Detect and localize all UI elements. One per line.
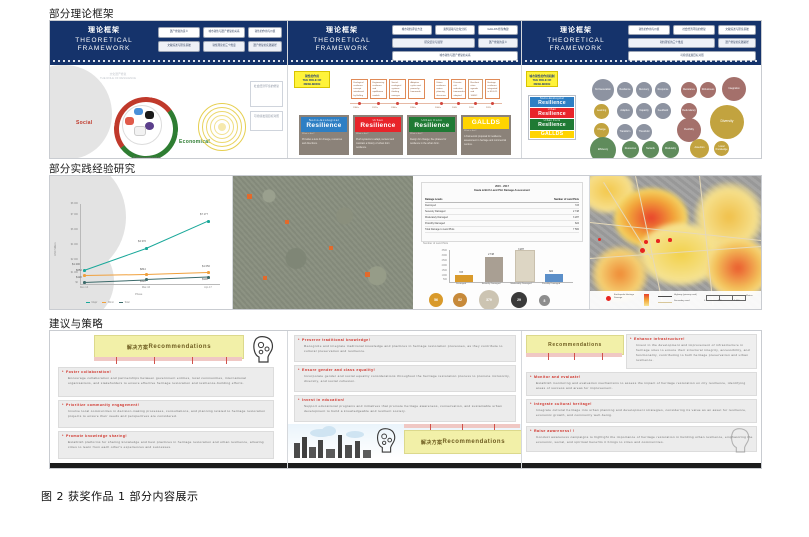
damage-table-cell: 2 748 <box>573 210 579 213</box>
banner-title-cn: 理论框架 <box>530 26 622 35</box>
map-scale-bar <box>706 295 746 301</box>
legend-row: Urban Form Resilience <box>530 119 574 129</box>
resilience-box: Urban Form Resilience What is this? Desi… <box>407 115 457 155</box>
resilience-box-caption: Socio-Ecological Resilience <box>301 117 347 132</box>
poster2-panel-line-chart: $8 000 $7 000 $6 000 $4 000 $2 000 $1 00… <box>50 176 232 309</box>
chart-ytick: $6 000 <box>58 228 78 231</box>
banner-title-en1: THEORETICAL <box>530 37 622 45</box>
bubble: Resources <box>622 141 639 158</box>
chart-xtick: Apr-17 <box>196 286 220 289</box>
banner-tick <box>192 357 193 364</box>
poster1-header-box: 社会经济环境的修复 <box>673 25 715 35</box>
head-gears-icon <box>250 335 276 365</box>
head-gears-icon <box>374 427 398 455</box>
legend-earthquake-label: Earthquake Heritage Damage <box>614 294 640 300</box>
bar-chart-ytick: 1000 <box>431 274 447 277</box>
recommendation-body: Support educational programs and initiat… <box>298 404 512 414</box>
banner-tick <box>116 357 117 364</box>
chart-data-label: $120 <box>76 276 82 279</box>
timeline-card: Social-ecological systems thinking emerg… <box>389 79 406 99</box>
chart-ytick: $0 <box>58 281 78 284</box>
poster1-bubble-cluster: 3rd Generation Resilience Recovery Respo… <box>582 73 758 157</box>
resilience-box-caption: Urban Form Resilience <box>409 117 455 132</box>
legend-row: Urban Resilience <box>530 108 574 118</box>
chart-marker <box>83 269 86 272</box>
recommendation-body: Invest in the development and improvemen… <box>630 343 753 362</box>
bar <box>455 275 473 282</box>
recommendation-card: Prioritize community engagement! Involve… <box>58 400 274 428</box>
recommendation-card: Promote knowledge sharing! Establish pla… <box>58 431 274 459</box>
chart-ytick: $7 000 <box>58 213 78 216</box>
chart-x-axis-label: Phase <box>135 293 142 296</box>
chart-data-label: $420 <box>140 280 146 283</box>
bubble: Assertion <box>690 139 709 158</box>
poster3-panel-right: Recommendations Enhance infrastructure! … <box>522 331 761 468</box>
section-heading-theoretical-framework: 部分理论框架 <box>49 6 114 21</box>
banner-tick <box>226 357 227 364</box>
banner-en: Recommendations <box>548 342 602 348</box>
chart-y-axis <box>80 204 81 284</box>
tag-en2: RESILIENCE <box>304 82 321 86</box>
banner-title-en2: FRAMEWORK <box>58 45 150 53</box>
building <box>318 440 323 458</box>
venn-center-en: THE ROLE OF RESILIENCE <box>100 76 136 80</box>
damage-table-title: Kaula & Birth Land Plot Damage Assessmen… <box>422 189 582 193</box>
timeline-label: 1970s <box>372 107 378 109</box>
resilience-box-caption: GALLDS <box>463 117 509 129</box>
recommendation-title: Preserve traditional knowledge! <box>298 338 512 343</box>
poster1-spiral-graphic <box>198 103 246 151</box>
recommendations-banner: 解决方案Recommendations <box>94 335 244 359</box>
earthquake-dot <box>644 240 648 244</box>
chart-data-label: $900 <box>202 278 208 281</box>
banner-en: Recommendations <box>148 344 211 350</box>
poster3-footer-bar <box>288 463 521 468</box>
recommendation-title: Promote knowledge sharing! <box>62 434 270 439</box>
poster1-header-box: 韧性的作用与价值 <box>248 27 282 38</box>
poster1-header-box: 遗产修复的意义 <box>478 38 518 48</box>
scale-tick: 0 <box>704 300 705 302</box>
poster1-banner-title-middle: 理论框架 THEORETICAL FRAMEWORK <box>296 26 388 53</box>
chart-legend-label: Total <box>124 301 129 304</box>
chart-line-segment <box>84 280 146 284</box>
timeline-dot <box>440 102 443 105</box>
earthquake-dot <box>668 238 672 242</box>
poster1-banner-middle: 理论框架 THEORETICAL FRAMEWORK 城市韧性评估方法 案例选取… <box>288 21 521 65</box>
chart-data-label: $1 050 <box>202 265 210 268</box>
timeline-card: Resilient cities agenda and 100RC progra… <box>468 79 483 99</box>
chart-legend-label: Major <box>92 301 98 304</box>
damage-chip: 379 <box>479 290 499 309</box>
bubble: Redundancy <box>681 103 697 119</box>
venn-icon-economy <box>145 111 154 119</box>
timeline-label: 1960s <box>353 107 359 109</box>
recommendation-body: Involve local communities in decision-ma… <box>62 409 270 419</box>
recommendations-banner: 解决方案Recommendations <box>404 430 521 454</box>
recommendation-card: Preserve traditional knowledge! Recogniz… <box>294 335 516 362</box>
poster1-header-box: 韧性理论的三个维度 <box>628 38 715 48</box>
earthquake-dot <box>598 238 601 241</box>
poster1-center-caption: 文化遗产修复 THE ROLE OF RESILIENCE <box>88 69 148 93</box>
map-marker <box>329 246 333 250</box>
poster3-panel-middle: Preserve traditional knowledge! Recogniz… <box>288 331 521 468</box>
damage-table-cell: 723 <box>575 204 579 207</box>
bubble: Diversity <box>710 105 744 139</box>
legend-row-title: Resilience <box>532 101 572 106</box>
legend-row: Socio-Ecological Resilience <box>530 97 574 107</box>
legend-row-title: Resilience <box>532 112 572 117</box>
bubble: 3rd Generation <box>592 79 614 101</box>
chart-marker <box>207 271 210 274</box>
bubble: Transform <box>617 124 633 140</box>
timeline-dot <box>358 102 361 105</box>
poster3-panel-left: 解决方案Recommendations Foster collaboration… <box>50 331 287 468</box>
bubble: Network <box>642 141 659 158</box>
recommendation-title: Raise awareness! ! <box>530 429 753 434</box>
poster1-header-box: 遗产修复的实践路径 <box>718 38 756 48</box>
bar-category-label: Moderately Damaged <box>509 283 533 285</box>
poster1-header-box: 遗产修复的实践路径 <box>248 41 282 52</box>
venn-icon-community <box>125 117 134 125</box>
section-heading-recommendations: 建议与策略 <box>49 316 103 331</box>
poster1-panel-middle: 理论框架 THEORETICAL FRAMEWORK 城市韧性评估方法 案例选取… <box>288 21 521 158</box>
bar <box>485 257 503 282</box>
recommendation-title: Invest in education! <box>298 398 512 403</box>
bar-value-label: 3 287 <box>511 249 531 251</box>
building <box>338 435 342 458</box>
poster3-footer-bar <box>522 463 761 468</box>
venn-icon-social <box>134 108 143 115</box>
chart-data-label: $7 177 <box>200 213 208 216</box>
timeline-card: Ecological resilience concept introduced… <box>351 79 368 99</box>
timeline-label: 2010 <box>469 107 474 109</box>
timeline-card: Heritage resilience integrated in SDG 11 <box>485 79 500 99</box>
venn-label-social: Social <box>76 120 93 126</box>
timeline-axis <box>350 103 502 104</box>
poster1-note-text: 社会经济环境的修复 <box>254 84 279 88</box>
damage-bar-chart: Number of Land Plots 3500 3000 2500 2000… <box>423 242 581 290</box>
chart-ytick: $8 000 <box>58 202 78 205</box>
damage-table-cell: 7 582 <box>573 228 579 231</box>
chart-line-segment <box>84 274 146 276</box>
resilience-box-caption: Urban Resilience <box>355 117 401 132</box>
poster3-footer-bar <box>50 463 287 468</box>
poster1-panel-left: 理论框架 THEORETICAL FRAMEWORK 遗产修复的意义 城市韧性与… <box>50 21 287 158</box>
poster1-resilience-legend: Socio-Ecological Resilience Urban Resili… <box>528 95 576 140</box>
bar-value-label: 824 <box>541 271 561 273</box>
chart-legend-label: Minor <box>108 301 114 304</box>
banner-title-en1: THEORETICAL <box>58 37 150 45</box>
poster1-note-box: 可持续发展目标对照 <box>250 111 283 131</box>
damage-table-cell: 3 287 <box>573 216 579 219</box>
poster2-panel-damage-assessment: 2015 - 2017 Kaula & Birth Land Plot Dama… <box>413 176 589 309</box>
poster1-header-box: GALLDS 框架构建 <box>478 25 518 35</box>
poster1-banner-right: 理论框架 THEORETICAL FRAMEWORK 韧性的作用与价值 社会经济… <box>522 21 761 65</box>
timeline-dot <box>457 102 460 105</box>
recommendation-body: Recognize and integrate traditional know… <box>298 344 512 354</box>
timeline-card: Adaptive cycles and panarchy framework <box>408 79 425 99</box>
recommendation-body: Encourage collaboration and partnerships… <box>62 376 270 386</box>
timeline-label: 2000s <box>435 107 441 109</box>
chart-marker <box>207 220 210 223</box>
bar-chart-ytick: 500 <box>431 278 447 281</box>
building <box>355 441 360 458</box>
bubble: Threshold <box>636 124 652 140</box>
tag-en2: RESILIENCE <box>534 82 551 86</box>
resilience-box-body: A framework proposal for resilience asse… <box>463 133 509 148</box>
bar-category-label: Severely Damaged <box>479 283 503 285</box>
damage-chip-row: 56 82 379 29 8 <box>427 292 577 308</box>
bar-chart-ytick: 2500 <box>431 259 447 262</box>
chart-data-label: $4 370 <box>138 240 146 243</box>
timeline-dot <box>474 102 477 105</box>
banner-tick <box>602 353 603 360</box>
timeline-dot <box>377 102 380 105</box>
poster1-header-box: 可持续发展目标对照 <box>628 51 756 61</box>
legend-primary-road-label: Highway (primary road) <box>674 294 697 296</box>
poster1-header-box: 城市韧性与遗产修复的关系 <box>203 27 245 38</box>
poster1-header-box: 城市韧性与遗产修复的关系 <box>392 51 518 61</box>
chart-marker <box>145 273 148 276</box>
resilience-box: Urban Resilience What is this? Push syst… <box>353 115 403 155</box>
poster1-note-box: 社会经济环境的修复 <box>250 81 283 107</box>
bubble: Learning <box>594 104 609 119</box>
timeline-label: 2005 <box>452 107 457 109</box>
chart-data-label: $844 <box>140 268 146 271</box>
damage-table-cell: Severely Damaged <box>425 210 445 213</box>
recommendation-title: Ensure gender and class equality! <box>298 368 512 373</box>
satellite-texture <box>233 176 413 309</box>
banner-tick <box>154 357 155 364</box>
recommendation-body: Establish monitoring and evaluation mech… <box>530 381 753 391</box>
recommendation-title: Prioritize community engagement! <box>62 403 270 408</box>
damage-table-cell: Moderately Damaged <box>425 216 448 219</box>
bar-chart-y-label: Number of Land Plots <box>423 242 449 245</box>
banner-cn: 解决方案 <box>421 439 443 446</box>
poster1-header-box: 城市韧性评估方法 <box>392 25 432 35</box>
chart-xtick: Dec-14 <box>72 286 96 289</box>
resilience-box-title: GALLDS <box>464 119 508 126</box>
timeline-card: Urban resilience enters planning discour… <box>434 79 449 99</box>
chart-data-label: $652 <box>76 269 82 272</box>
damage-table-cell: Destroyed <box>425 204 436 207</box>
building <box>294 443 300 458</box>
venn-icon-heritage <box>134 126 146 136</box>
earthquake-dot <box>656 239 660 243</box>
bar-value-label: 723 <box>451 272 471 274</box>
poster1-panel-right: 理论框架 THEORETICAL FRAMEWORK 韧性的作用与价值 社会经济… <box>522 21 761 158</box>
poster1-banner-left: 理论框架 THEORETICAL FRAMEWORK 遗产修复的意义 城市韧性与… <box>50 21 287 65</box>
chart-line-segment <box>146 272 208 275</box>
legend-secondary-road-swatch <box>658 302 672 303</box>
damage-table-cell: 824 <box>575 222 579 225</box>
bubble: Recovery <box>636 82 652 98</box>
poster-strip-recommendations: 解决方案Recommendations Foster collaboration… <box>49 330 762 469</box>
bubble: Response <box>655 82 671 98</box>
recommendation-title: Integrate cultural heritage! <box>530 402 753 407</box>
chart-ytick: $2 000 <box>58 258 78 261</box>
chart-marker <box>83 281 86 284</box>
poster1-header-box: 研究结论与展望 <box>392 38 475 48</box>
legend-secondary-road-label: Secondary road <box>674 300 689 302</box>
scale-unit-label: Meters <box>746 295 753 297</box>
timeline-card: Disaster risk reduction frameworks adopt… <box>451 79 466 99</box>
banner-title-en1: THEORETICAL <box>296 37 388 45</box>
chart-x-axis <box>80 284 220 285</box>
legend-earthquake-dot <box>606 296 611 301</box>
map-marker <box>285 220 289 224</box>
banner-cn: 解决方案 <box>127 344 149 351</box>
bubble: Integration <box>722 77 746 101</box>
recommendation-card: Raise awareness! ! Conduct awareness cam… <box>526 426 757 452</box>
poster1-tag-role-of-resilience: 韧性的作用 THE ROLE OF RESILIENCE <box>294 71 330 88</box>
damage-table-col: Number of Land Plots <box>554 198 579 201</box>
poster-strip-practice-research: $8 000 $7 000 $6 000 $4 000 $2 000 $1 00… <box>49 175 762 310</box>
resilience-box-title: Resilience <box>356 122 400 129</box>
poster1-header-box: 遗产修复的意义 <box>158 27 200 38</box>
bubble: Resistance <box>681 82 697 98</box>
legend-row: GALLDS <box>530 131 574 138</box>
damage-chip: 82 <box>453 293 467 307</box>
poster1-header-box: 文献综述与理论基础 <box>718 25 756 35</box>
building <box>363 450 371 458</box>
bubble: Local Knowledge <box>714 141 729 156</box>
head-gears-icon <box>728 427 752 455</box>
chart-line-segment <box>84 248 147 271</box>
legend-color-ramp <box>644 294 649 306</box>
chart-y-axis-label: USD Million <box>54 242 57 256</box>
bubble: Feedback <box>655 103 671 119</box>
recommendation-title: Foster collaboration! <box>62 370 270 375</box>
bar-chart-plot <box>449 250 573 282</box>
recommendation-body: Incorporate gender and social equality c… <box>298 374 512 384</box>
recommendation-card: Ensure gender and class equality! Incorp… <box>294 365 516 392</box>
timeline-card: Engineering resilience and equilibrium m… <box>370 79 387 99</box>
scale-tick: 1 000 <box>734 300 739 302</box>
building <box>309 447 316 458</box>
bubble: Efficiency <box>590 137 616 158</box>
damage-table-row-total: Total Damage to Land Plots 7 582 <box>425 227 579 233</box>
timeline-label: 2015 <box>486 107 491 109</box>
line-chart: $8 000 $7 000 $6 000 $4 000 $2 000 $1 00… <box>50 176 232 309</box>
banner-title-cn: 理论框架 <box>58 26 150 35</box>
recommendation-card: Foster collaboration! Encourage collabor… <box>58 367 274 397</box>
legend-row-title: Resilience <box>532 123 572 128</box>
building <box>302 437 307 458</box>
recommendation-title: Monitor and evaluate! <box>530 375 753 380</box>
resilience-box-body: Provides a lens for change, resources an… <box>301 136 347 147</box>
banner-title-en2: FRAMEWORK <box>296 45 388 53</box>
damage-table-cell: Possibly Damaged <box>425 222 445 225</box>
banner-tick <box>548 353 549 360</box>
cloud-shape <box>346 431 364 438</box>
bar-chart-ytick: 3500 <box>431 249 447 252</box>
bubble: Robustness <box>700 82 716 98</box>
timeline-dot <box>491 102 494 105</box>
poster1-header-box: 韧性理论的三个维度 <box>203 41 245 52</box>
recommendation-body: Integrate cultural heritage into urban p… <box>530 408 753 418</box>
damage-table-cell: Total Damage to Land Plots <box>425 228 454 231</box>
poster-strip-theoretical-framework: 理论框架 THEORETICAL FRAMEWORK 遗产修复的意义 城市韧性与… <box>49 20 762 159</box>
map-marker <box>365 272 370 277</box>
resilience-box-body: Push systems to adapt, recover and maint… <box>355 136 401 151</box>
recommendation-card: Monitor and evaluate! Establish monitori… <box>526 372 757 396</box>
bar-chart-ytick: 2000 <box>431 264 447 267</box>
bar-chart-ytick: 3000 <box>431 254 447 257</box>
damage-chip: 29 <box>511 292 527 308</box>
poster1-banner-title-right: 理论框架 THEORETICAL FRAMEWORK <box>530 26 622 53</box>
bar-category-label: Possibly Damaged <box>539 283 563 285</box>
venn-label-environmental: Environmental <box>133 155 161 158</box>
venn-icon-culture <box>145 122 154 130</box>
damage-chip: 8 <box>539 295 550 306</box>
timeline-label: 1980s <box>391 107 397 109</box>
building <box>345 445 352 458</box>
building <box>326 449 335 458</box>
bar-value-label: 2 748 <box>481 254 501 256</box>
timeline-label: 1990s <box>410 107 416 109</box>
recommendation-card: Enhance infrastructure! Invest in the de… <box>626 334 757 369</box>
damage-table-card: 2015 - 2017 Kaula & Birth Land Plot Dama… <box>421 182 583 242</box>
resilience-box: Socio-Ecological Resilience What is this… <box>299 115 349 155</box>
bubble: Modularity <box>662 141 679 158</box>
poster2-panel-heatmap: Earthquake Heritage Damage Highway (prim… <box>590 176 761 309</box>
cloud-shape <box>322 426 336 436</box>
poster1-header-box: 案例选取与比较分析 <box>435 25 475 35</box>
damage-table: Damage Levels Number of Land Plots Destr… <box>425 197 579 233</box>
bar-chart-ytick: 1500 <box>431 269 447 272</box>
page-root: 部分理论框架 理论框架 THEORETICAL FRAMEWORK 遗产修复的意… <box>0 0 809 537</box>
figure-caption: 图 2 获奖作品 1 部分内容展示 <box>41 488 198 504</box>
bubble: Change <box>594 123 609 138</box>
recommendation-card: Integrate cultural heritage! Integrate c… <box>526 399 757 423</box>
banner-en: Recommendations <box>442 439 505 445</box>
bar-category-label: Destroyed <box>449 283 473 285</box>
bar <box>515 250 535 282</box>
damage-table-col: Damage Levels <box>425 198 442 201</box>
bubble: Resilience <box>617 82 633 98</box>
recommendation-body: Conduct awareness campaigns to highlight… <box>530 435 753 445</box>
poster1-venn-diagram <box>110 93 172 155</box>
poster2-panel-satellite-map <box>233 176 413 309</box>
resilience-box: GALLDS What is this? A framework proposa… <box>461 115 511 155</box>
section-heading-practice-research: 部分实践经验研究 <box>49 161 135 176</box>
poster1-header-box: 文献综述与理论基础 <box>158 41 200 52</box>
scale-tick: 500 <box>718 300 722 302</box>
banner-title-en2: FRAMEWORK <box>530 45 622 53</box>
chart-ytick: $1 000 <box>58 271 78 274</box>
chart-legend-item: Minor <box>102 301 113 304</box>
legend-row-title: GALLDS <box>532 132 572 137</box>
resilience-box-title: Resilience <box>302 122 346 129</box>
chart-legend: Major Minor Total <box>86 301 130 304</box>
bubble: Adaptive <box>617 103 633 119</box>
earthquake-dot <box>640 248 645 253</box>
map-marker <box>263 276 267 280</box>
poster1-banner-title-left: 理论框架 THEORETICAL FRAMEWORK <box>58 26 150 53</box>
recommendation-title: Enhance infrastructure! <box>630 337 753 342</box>
chart-legend-item: Major <box>86 301 97 304</box>
poster1-header-box: 韧性的作用与价值 <box>628 25 670 35</box>
recommendation-card: Invest in education! Support educational… <box>294 395 516 422</box>
chart-data-label: $1 200 <box>72 263 80 266</box>
poster1-tag-role-of-resilience-right: 城市韧性的作用机制 THE ROLE OF RESILIENCE <box>526 71 558 87</box>
map-marker <box>247 194 252 199</box>
legend-primary-road-swatch <box>658 296 672 297</box>
chart-xtick: Mar-16 <box>134 286 158 289</box>
bubble: Capacity <box>636 103 652 119</box>
chart-legend-item: Total <box>119 301 130 304</box>
